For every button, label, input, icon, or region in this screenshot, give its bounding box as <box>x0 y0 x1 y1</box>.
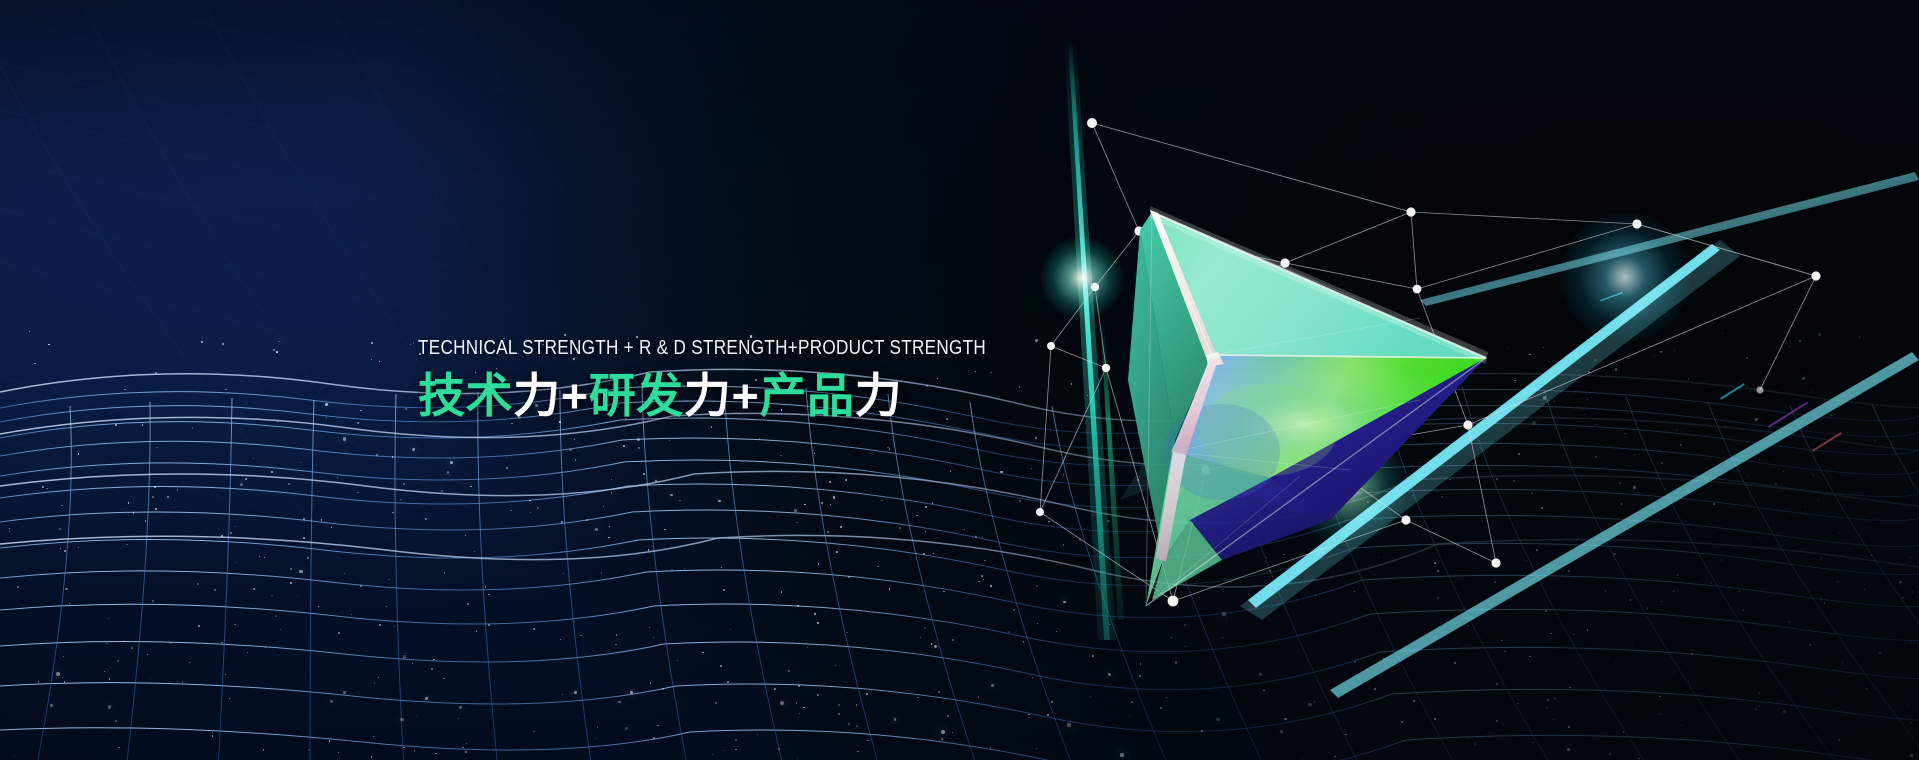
particle-dot <box>1496 478 1498 480</box>
particle-dot <box>344 573 345 574</box>
particle-dot <box>1660 351 1662 353</box>
particle-dot <box>836 551 838 553</box>
particle-dot <box>245 478 247 480</box>
particle-dot <box>1320 462 1321 463</box>
particle-dot <box>1226 620 1227 621</box>
particle-dot <box>650 682 652 684</box>
particle-dot <box>807 647 808 648</box>
particle-dot <box>1802 377 1805 380</box>
particle-dot <box>625 727 628 730</box>
particle-dot <box>115 720 117 722</box>
particle-dot <box>1164 551 1166 553</box>
particle-dot <box>371 756 373 758</box>
particle-dot <box>1186 493 1187 494</box>
particle-dot <box>64 550 66 552</box>
particle-dot <box>702 652 704 654</box>
particle-dot <box>1661 601 1662 602</box>
particle-dot <box>275 615 277 617</box>
particle-dot <box>609 526 610 527</box>
particle-dot <box>735 749 737 751</box>
particle-dot <box>1783 710 1786 713</box>
particle-dot <box>1274 587 1275 588</box>
particle-dot <box>510 510 511 511</box>
particle-dot <box>574 621 576 623</box>
particle-dot <box>1677 574 1679 576</box>
particle-dot <box>941 730 945 734</box>
particle-dot <box>142 424 143 425</box>
particle-dot <box>78 547 80 549</box>
particle-dot <box>845 479 847 481</box>
particle-dot <box>574 439 576 441</box>
particle-dot <box>1514 382 1516 384</box>
particle-dot <box>1367 501 1369 503</box>
particle-dot <box>1699 646 1700 647</box>
particle-dot <box>1035 437 1038 440</box>
particle-dot <box>1263 690 1264 691</box>
particle-dot <box>941 738 943 740</box>
particle-dot <box>835 665 836 666</box>
particle-dot <box>1385 346 1386 347</box>
particle-dot <box>42 486 44 488</box>
particle-dot <box>1567 748 1570 751</box>
particle-dot <box>1051 701 1053 703</box>
particle-dot <box>718 500 721 503</box>
particle-dot <box>1554 698 1556 700</box>
particle-dot <box>580 635 582 637</box>
particle-dot <box>1013 609 1015 611</box>
particle-dot <box>1297 529 1299 531</box>
headline-part-5: + <box>731 369 759 422</box>
particle-dot <box>1569 687 1570 688</box>
particle-dot <box>932 502 934 504</box>
particle-dot <box>670 494 673 497</box>
particle-dot <box>1000 471 1002 473</box>
particle-dot <box>288 483 290 485</box>
particle-dot <box>273 349 275 351</box>
particle-dot <box>145 520 146 521</box>
particle-dot <box>655 480 657 482</box>
particle-dot <box>1354 591 1355 592</box>
particle-dot <box>1028 714 1030 716</box>
particle-dot <box>1504 651 1506 653</box>
particle-dot <box>1691 653 1693 655</box>
particle-dot <box>1799 340 1801 342</box>
particle-dot <box>894 718 897 721</box>
particle-dot <box>465 535 466 536</box>
particle-dot <box>530 512 531 513</box>
particle-dot <box>1613 553 1616 556</box>
particle-dot <box>887 447 888 448</box>
particle-dot <box>1314 701 1316 703</box>
particle-dot <box>280 629 281 630</box>
particle-dot <box>1512 426 1513 427</box>
particle-dot <box>253 458 254 459</box>
particle-dot <box>537 507 539 509</box>
particle-dot <box>247 652 248 653</box>
particle-dot <box>1201 469 1202 470</box>
particle-dot <box>1449 479 1451 481</box>
particle-dot <box>106 643 108 645</box>
particle-dot <box>1621 503 1623 505</box>
particle-dot <box>1820 597 1822 599</box>
particle-dot <box>1811 473 1813 475</box>
particle-dot <box>1467 617 1469 619</box>
particle-dot <box>1638 758 1640 760</box>
particle-dot <box>1036 585 1038 587</box>
particle-dot <box>64 681 65 682</box>
particle-dot <box>947 715 949 717</box>
particle-dot <box>1609 753 1611 755</box>
particle-dot <box>450 461 453 464</box>
particle-dot <box>933 553 935 555</box>
particle-dot <box>1543 396 1547 400</box>
particle-dot <box>603 506 605 508</box>
particle-dot <box>170 643 172 645</box>
particle-dot <box>866 693 868 695</box>
particle-dot <box>338 632 340 634</box>
particle-dot <box>1746 357 1748 359</box>
particle-dot <box>225 674 226 675</box>
particle-dot <box>1494 581 1496 583</box>
particle-dot <box>234 624 236 626</box>
particle-dot <box>1595 359 1597 361</box>
particle-dot <box>1654 355 1655 356</box>
particle-dot <box>1280 730 1283 733</box>
particle-dot <box>1632 645 1633 646</box>
particle-dot <box>467 603 469 605</box>
particle-dot <box>943 591 944 592</box>
particle-dot <box>466 743 467 744</box>
particle-dot <box>595 528 598 531</box>
particle-dot <box>1899 581 1902 584</box>
particle-dot <box>152 496 154 498</box>
particle-dot <box>1661 462 1663 464</box>
particle-dot <box>1536 549 1538 551</box>
particle-dot <box>197 583 199 585</box>
particle-dot <box>108 705 111 708</box>
particle-dot <box>1546 707 1548 709</box>
particle-dot <box>458 718 459 719</box>
particle-dot <box>1269 570 1271 572</box>
particle-dot <box>343 691 346 694</box>
particle-dot <box>1713 503 1715 505</box>
particle-dot <box>1628 530 1629 531</box>
particle-dot <box>271 471 273 473</box>
particle-dot <box>1548 568 1549 569</box>
particle-dot <box>1810 420 1812 422</box>
particle-dot <box>671 569 673 571</box>
particle-dot <box>1813 474 1814 475</box>
particle-dot <box>803 707 805 709</box>
particle-dot <box>118 747 119 748</box>
particle-dot <box>1131 701 1133 703</box>
particle-dot <box>337 477 339 479</box>
particle-dot <box>846 632 848 634</box>
headline-part-2: + <box>561 369 589 422</box>
particle-dot <box>950 470 952 472</box>
particle-dot <box>1842 662 1844 664</box>
particle-dot <box>1839 741 1840 742</box>
particle-dot <box>1847 432 1848 433</box>
particle-dot <box>1067 723 1071 727</box>
particle-dot <box>1615 662 1616 663</box>
particle-dot <box>1831 614 1833 616</box>
particle-dot <box>1107 520 1109 522</box>
particle-dot <box>379 624 381 626</box>
particle-dot <box>924 627 926 629</box>
particle-dot <box>131 647 133 649</box>
particle-dot <box>981 575 983 577</box>
particle-dot <box>1434 562 1436 564</box>
particle-dot <box>303 537 305 539</box>
particle-dot <box>414 750 415 751</box>
particle-dot <box>794 509 797 512</box>
particle-dot <box>1193 442 1196 445</box>
particle-dot <box>400 718 404 722</box>
particle-dot <box>899 527 901 529</box>
particle-dot <box>1495 487 1497 489</box>
particle-dot <box>251 610 253 612</box>
particle-dot <box>1087 395 1089 397</box>
particle-dot <box>1374 688 1376 690</box>
particle-dot <box>1721 559 1723 561</box>
particle-dot <box>814 453 815 454</box>
particle-dot <box>1308 703 1312 707</box>
particle-dot <box>1441 496 1443 498</box>
particle-dot <box>156 447 157 448</box>
particle-dot <box>797 758 799 760</box>
particle-dot <box>952 732 954 734</box>
particle-dot <box>916 553 917 554</box>
particle-dot <box>990 585 992 587</box>
particle-dot <box>889 448 891 450</box>
particle-dot <box>278 341 280 343</box>
particle-dot <box>1193 430 1194 431</box>
particle-dot <box>1283 554 1285 556</box>
particle-dot <box>425 697 428 700</box>
particle-dot <box>1383 658 1385 660</box>
particle-dot <box>56 672 60 676</box>
particle-dot <box>63 656 64 657</box>
particle-dot <box>133 512 135 514</box>
particle-dot <box>1047 714 1048 715</box>
particle-dot <box>1739 590 1741 592</box>
particle-dot <box>1023 641 1025 643</box>
particle-dot <box>264 557 265 558</box>
particle-dot <box>1529 354 1531 356</box>
particle-dot <box>848 576 850 578</box>
particle-dot <box>649 627 651 629</box>
particle-dot <box>814 613 816 615</box>
particle-dot <box>308 749 310 751</box>
particle-dot <box>1587 399 1589 401</box>
particle-dot <box>290 568 292 570</box>
particle-dot <box>653 737 655 739</box>
particle-dot <box>730 629 731 630</box>
particle-dot <box>182 681 184 683</box>
particle-dot <box>9 531 10 532</box>
particle-dot <box>925 531 926 532</box>
particle-dot <box>371 342 373 344</box>
particle-dot <box>17 586 19 588</box>
particle-dot <box>574 691 577 694</box>
particle-dot <box>1837 403 1839 405</box>
particle-dot <box>1141 363 1142 364</box>
headline-part-1: 力 <box>513 369 561 422</box>
particle-dot <box>611 492 612 493</box>
particle-dot <box>1710 582 1712 584</box>
hero-banner: TECHNICAL STRENGTH + R & D STRENGTH+PROD… <box>0 0 1919 760</box>
particle-dot <box>48 344 50 346</box>
particle-dot <box>124 389 126 391</box>
particle-dot <box>804 504 806 506</box>
particle-dot <box>1037 623 1038 624</box>
particle-dot <box>561 521 563 523</box>
particle-dot <box>856 725 858 727</box>
particle-dot <box>1584 414 1585 415</box>
particle-dot <box>1911 641 1913 643</box>
particle-dot <box>405 408 407 410</box>
particle-dot <box>774 688 776 690</box>
particle-dot <box>1139 675 1141 677</box>
particle-dot <box>1419 462 1420 463</box>
particle-dot <box>1281 437 1283 439</box>
particle-dot <box>1297 559 1298 560</box>
particle-dot <box>662 688 664 690</box>
particle-dot <box>648 549 650 551</box>
particle-dot <box>1870 555 1871 556</box>
particle-dot <box>126 544 128 546</box>
particle-dot <box>817 694 819 696</box>
particle-dot <box>727 681 729 683</box>
particle-dot <box>1529 656 1531 658</box>
particle-dot <box>425 518 427 520</box>
particle-dot <box>1541 507 1543 509</box>
particle-dot <box>964 529 965 530</box>
particle-dot <box>1166 697 1167 698</box>
particle-dot <box>1400 722 1401 723</box>
particle-dot <box>1830 414 1832 416</box>
particle-dot <box>1063 544 1064 545</box>
particle-dot <box>983 579 985 581</box>
particle-dot <box>1063 474 1064 475</box>
particle-dot <box>400 499 402 501</box>
particle-dot <box>1687 490 1689 492</box>
particle-dot <box>917 697 918 698</box>
particle-dot <box>303 518 305 520</box>
particle-dot <box>978 581 980 583</box>
particle-dot <box>759 438 760 439</box>
particle-dot <box>412 448 415 451</box>
particle-dot <box>1284 718 1287 721</box>
particle-dot <box>1681 725 1683 727</box>
particle-dot <box>403 747 405 749</box>
particle-dot <box>1496 683 1498 685</box>
particle-dot <box>818 471 820 473</box>
particle-dot <box>1129 716 1130 717</box>
particle-dot <box>1266 557 1267 558</box>
particle-dot <box>1230 581 1232 583</box>
particle-dot <box>1673 673 1674 674</box>
particle-dot <box>1071 383 1073 385</box>
particle-dot <box>263 749 265 751</box>
particle-dot <box>1533 742 1534 743</box>
particle-dot <box>1295 446 1296 447</box>
particle-dot <box>533 731 535 733</box>
particle-dot <box>838 713 840 715</box>
particle-dot <box>664 529 665 530</box>
particle-dot <box>69 603 70 604</box>
particle-dot <box>476 630 478 632</box>
particle-dot <box>1132 371 1133 372</box>
particle-dot <box>1513 480 1515 482</box>
headline-part-6: 产品 <box>759 369 854 422</box>
particle-dot <box>1008 631 1010 633</box>
headline-part-0: 技术 <box>418 369 513 422</box>
particle-dot <box>1345 734 1347 736</box>
particle-dot <box>618 701 621 704</box>
particle-dot <box>392 512 394 514</box>
particle-dot <box>1543 347 1544 348</box>
particle-dot <box>1742 609 1744 611</box>
particle-dot <box>1805 506 1806 507</box>
particle-dot <box>1633 486 1637 490</box>
particle-dot <box>575 459 577 461</box>
particle-dot <box>376 454 378 456</box>
flare-right-streak <box>1560 212 1690 342</box>
particle-dot <box>1839 532 1841 534</box>
particle-dot <box>1314 489 1316 491</box>
particle-dot <box>167 496 169 498</box>
particle-dot <box>1171 392 1173 394</box>
particle-dot <box>357 422 359 424</box>
particle-dot <box>1474 743 1476 745</box>
particle-dot <box>975 536 977 538</box>
particle-dot <box>433 659 435 661</box>
particle-dot <box>392 456 394 458</box>
particle-dot <box>1634 455 1636 457</box>
particle-dot <box>340 542 341 543</box>
particle-dot <box>1818 333 1821 336</box>
particle-dot <box>1455 392 1457 394</box>
particle-dot <box>1910 722 1912 724</box>
particle-dot <box>563 573 564 574</box>
particle-dot <box>1120 753 1123 756</box>
particle-dot <box>616 634 617 635</box>
particle-dot <box>856 704 857 705</box>
particle-dot <box>152 600 154 602</box>
particle-dot <box>637 438 640 441</box>
particle-dot <box>394 626 395 627</box>
particle-dot <box>1879 652 1881 654</box>
particle-dot <box>596 738 597 739</box>
particle-dot <box>221 642 223 644</box>
particle-dot <box>788 670 790 672</box>
particle-dot <box>877 566 879 568</box>
particle-dot <box>1197 417 1199 419</box>
particle-dot <box>1865 688 1867 690</box>
particle-dot <box>1032 677 1034 679</box>
particle-dot <box>1824 602 1826 604</box>
particle-dot <box>62 677 64 679</box>
particle-dot <box>329 740 331 742</box>
particle-dot <box>978 696 979 697</box>
particle-dot <box>214 589 216 591</box>
particle-dot <box>1646 607 1648 609</box>
particle-dot <box>1529 567 1531 569</box>
particle-dot <box>198 625 200 627</box>
particle-dot <box>1079 539 1081 541</box>
